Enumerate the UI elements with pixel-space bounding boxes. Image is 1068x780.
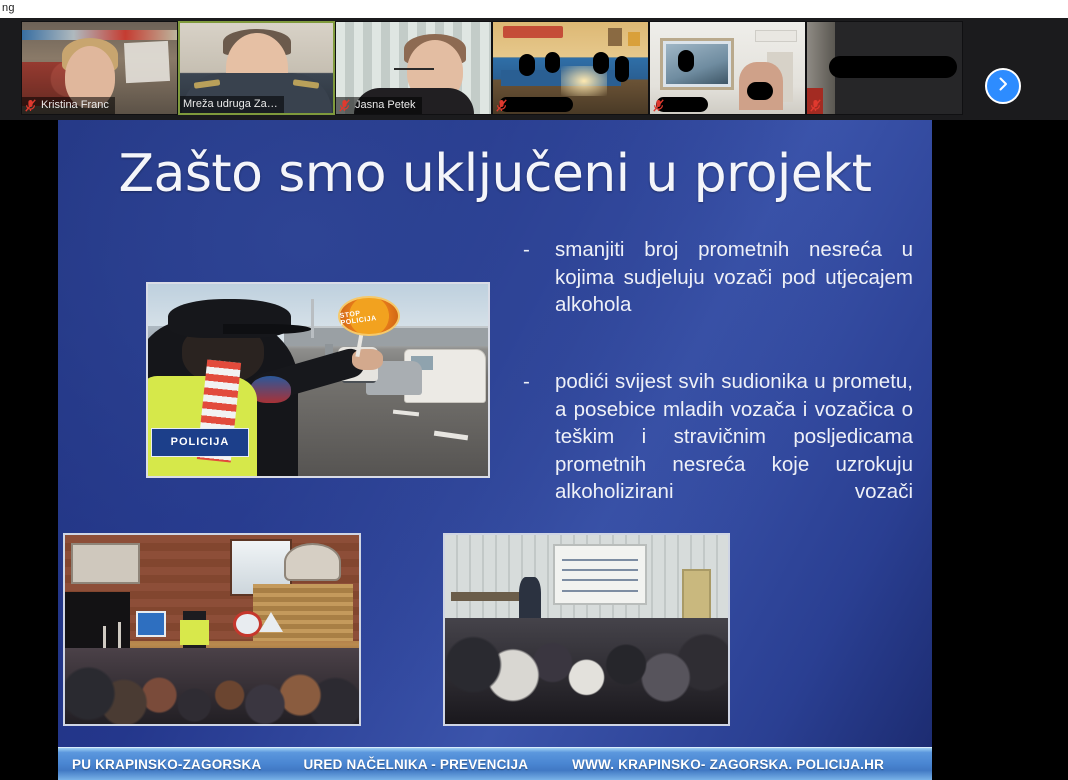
chevron-right-icon — [995, 76, 1011, 97]
face-redaction-bar — [519, 54, 535, 76]
slide-image-gymnasium — [63, 533, 361, 726]
top-text-fragment: ng — [2, 0, 15, 16]
next-page-button[interactable] — [985, 68, 1021, 104]
vest-label: POLICIJA — [171, 436, 230, 448]
mic-muted-icon — [339, 99, 350, 112]
participant-tile-5[interactable] — [806, 21, 963, 115]
footer-left-text: PU KRAPINSKO-ZAGORSKA — [72, 757, 261, 772]
browser-top-sliver: ng — [0, 0, 1068, 18]
participant-name: Mreža udruga Za… — [183, 98, 278, 111]
bullet-text: smanjiti broj prometnih nesreća u kojima… — [555, 236, 913, 346]
participant-tile-4[interactable] — [649, 21, 806, 115]
participant-tile-0[interactable]: Kristina Franc — [21, 21, 178, 115]
bullet-marker: - — [523, 236, 555, 346]
slide-footer: PU KRAPINSKO-ZAGORSKA URED NAČELNIKA - P… — [58, 747, 932, 780]
footer-center-text: URED NAČELNIKA - PREVENCIJA — [303, 757, 528, 772]
mic-muted-icon — [810, 99, 821, 112]
slide-bullet-list: - smanjiti broj prometnih nesreća u koji… — [523, 236, 913, 555]
mic-muted-icon — [496, 99, 507, 112]
face-redaction-bar — [545, 52, 560, 73]
bullet-item: - podići svijest svih sudionika u promet… — [523, 368, 913, 533]
name-redaction-bar — [829, 56, 957, 78]
bullet-item: - smanjiti broj prometnih nesreća u koji… — [523, 236, 913, 346]
bullet-text: podići svijest svih sudionika u prometu,… — [555, 368, 913, 533]
zoom-meeting-screenshare: ng Kristina Franc Mrež — [0, 0, 1068, 780]
slide-image-lecture — [443, 533, 730, 726]
mic-muted-icon — [25, 99, 36, 112]
face-redaction-bar — [593, 52, 609, 74]
participant-name-bar — [493, 97, 518, 114]
mic-muted-icon — [653, 99, 664, 112]
participant-thumbnail-list: Kristina Franc Mreža udruga Za… — [21, 21, 963, 117]
participant-name-bar: Mreža udruga Za… — [180, 96, 284, 113]
face-redaction-bar — [615, 56, 629, 82]
participant-name: Jasna Petek — [355, 99, 416, 112]
slide-title: Zašto smo uključeni u projekt — [58, 144, 932, 204]
participant-filmstrip[interactable]: Kristina Franc Mreža udruga Za… — [0, 18, 1068, 120]
bullet-marker: - — [523, 368, 555, 533]
participant-name-bar: Jasna Petek — [336, 97, 422, 114]
participant-name: Kristina Franc — [41, 99, 109, 112]
vest-plate: POLICIJA — [151, 428, 248, 457]
face-redaction-bar — [678, 50, 694, 72]
participant-tile-2[interactable]: Jasna Petek — [335, 21, 492, 115]
footer-right-text: WWW. KRAPINSKO- ZAGORSKA. POLICIJA.HR — [572, 757, 884, 772]
slide-image-police-officer: STOP POLICIJA POLICIJA — [146, 282, 490, 478]
participant-name-bar: Kristina Franc — [22, 97, 115, 114]
participant-tile-3[interactable] — [492, 21, 649, 115]
presentation-slide: Zašto smo uključeni u projekt - smanjiti… — [58, 120, 932, 780]
participant-name-bar — [650, 97, 675, 114]
participant-name-bar — [807, 97, 832, 114]
shared-screen-stage: Zašto smo uključeni u projekt - smanjiti… — [0, 120, 1068, 780]
participant-tile-1[interactable]: Mreža udruga Za… — [178, 21, 335, 115]
paddle-label: STOP POLICIJA — [340, 305, 399, 327]
face-redaction-bar — [747, 82, 773, 100]
stop-paddle-icon: STOP POLICIJA — [338, 296, 400, 336]
